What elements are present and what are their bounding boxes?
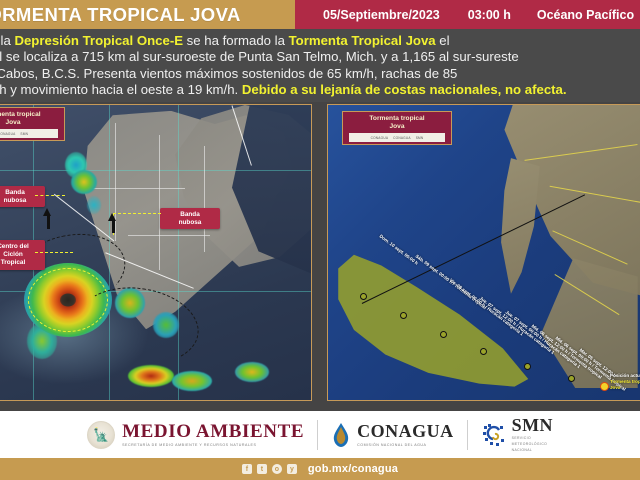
conagua-text: CONAGUA COMISIÓN NACIONAL DEL AGUA: [357, 422, 454, 447]
forecast-badge-line-2: Jova: [349, 123, 445, 131]
leader-banda-top: [35, 195, 65, 196]
smn-subtitle-2: METEOROLÓGICO: [512, 442, 553, 447]
instagram-icon[interactable]: o: [272, 464, 282, 474]
current-position-label: Posición actual Tormenta tropical Jova: [610, 373, 640, 391]
satellite-map-panel[interactable]: Banda nubosa Banda nubosa Centro del Cic…: [0, 104, 312, 401]
cloud-blob-6: [235, 362, 269, 382]
cloud-blob-5: [172, 371, 212, 391]
bulletin-date: 05/Septiembre/2023: [323, 8, 440, 22]
forecast-badge-logo-left: CONAGUA: [371, 136, 389, 140]
bulletin-hour: 03:00 h: [468, 8, 511, 22]
conagua-title: CONAGUA: [357, 422, 454, 441]
arrow-right-band: [108, 213, 116, 221]
leader-centro: [35, 252, 73, 253]
current-position-line-3: Jova: [610, 385, 640, 391]
line4-highlight-warning: Debido a su lejanía de costas nacionales…: [242, 82, 567, 97]
satellite-badge-logos: CONAGUA SMN: [0, 129, 58, 138]
label-banda-nubosa-top: Banda nubosa: [0, 186, 45, 207]
badge-conagua-logo: CONAGUA: [0, 132, 15, 136]
line4-part-a: km/h y movimiento hacia el oeste a 19 km…: [0, 82, 242, 97]
grid-line-lat-2: [0, 170, 311, 171]
track-point-3: [440, 331, 447, 338]
arrow-stem-left: [47, 215, 50, 229]
line1-part-a: De la: [0, 33, 14, 48]
footer-social-bar: f t o y gob.mx/conagua: [0, 458, 640, 480]
state-border-3: [90, 188, 185, 189]
label-centro-ciclon: Centro del Ciclón Tropical: [0, 240, 45, 270]
smn-logo-group: SMN SERVICIO METEOROLÓGICO NACIONAL: [481, 416, 553, 452]
cloud-blob-2: [71, 170, 97, 194]
ocean-basin-label: Océano Pacífico: [537, 8, 634, 22]
badge-smn-logo: SMN: [20, 132, 28, 136]
smn-text: SMN SERVICIO METEOROLÓGICO NACIONAL: [512, 416, 553, 452]
eagle-glyph: 🗽: [93, 428, 109, 441]
line1-part-c: el: [436, 33, 450, 48]
forecast-badge-logos: CONAGUA CONAGUA SMN: [349, 133, 445, 142]
line1-part-b: se ha formado la: [183, 33, 289, 48]
cloud-blob-3: [87, 196, 101, 214]
track-point-6: [568, 375, 575, 382]
current-position-marker: [600, 382, 609, 391]
youtube-icon[interactable]: y: [287, 464, 297, 474]
state-border-2: [159, 135, 160, 271]
satellite-map-badge: Tormenta tropical Jova CONAGUA SMN: [0, 107, 65, 141]
medio-ambiente-title: MEDIO AMBIENTE: [122, 422, 304, 442]
satellite-badge-line-2: Jova: [0, 119, 58, 127]
footer-logos-bar: 🗽 MEDIO AMBIENTE SECRETARÍA DE MEDIO AMB…: [0, 411, 640, 458]
water-drop-icon: [331, 422, 351, 448]
bulletin-line-1: De la Depresión Tropical Once-E se ha fo…: [0, 33, 640, 49]
mexican-eagle-icon: 🗽: [87, 421, 115, 449]
bulletin-screenshot: TORMENTA TROPICAL JOVA 05/Septiembre/202…: [0, 0, 640, 480]
bulletin-line-3: de Cabos, B.C.S. Presenta vientos máximo…: [0, 66, 640, 82]
bulletin-line-4: km/h y movimiento hacia el oeste a 19 km…: [0, 82, 640, 98]
arrow-stem-right: [112, 219, 115, 233]
label-banda-nubosa-right: Banda nubosa: [160, 208, 220, 229]
page-title: TORMENTA TROPICAL JOVA: [0, 4, 241, 26]
leader-banda-right: [113, 213, 161, 214]
track-point-1: [360, 293, 367, 300]
smn-subtitle-3: NACIONAL: [512, 448, 553, 453]
line1-highlight-depresion: Depresión Tropical Once-E: [14, 33, 183, 48]
satellite-badge-line-1: Tormenta tropical: [0, 111, 58, 119]
smn-title: SMN: [512, 416, 553, 434]
footer-divider-1: [317, 420, 318, 450]
coastline-gulf: [231, 105, 252, 165]
medio-ambiente-subtitle: SECRETARÍA DE MEDIO AMBIENTE Y RECURSOS …: [122, 443, 304, 447]
line1-highlight-tormenta: Tormenta Tropical Jova: [289, 33, 436, 48]
forecast-map-badge: Tormenta tropical Jova CONAGUA CONAGUA S…: [342, 111, 452, 145]
satellite-image: Banda nubosa Banda nubosa Centro del Cic…: [0, 105, 311, 400]
state-border-4: [128, 235, 210, 236]
maps-row: Banda nubosa Banda nubosa Centro del Cic…: [0, 104, 640, 405]
medio-ambiente-logo-group: 🗽 MEDIO AMBIENTE SECRETARÍA DE MEDIO AMB…: [87, 421, 304, 449]
arrow-left-band: [43, 208, 51, 216]
bulletin-line-2: cual se localiza a 715 km al sur-suroest…: [0, 49, 640, 65]
forecast-map-image: Dom. 10 sept. 00:00 h Sáb. 09 sept. 00:0…: [328, 105, 640, 400]
forecast-badge-logo-mid: CONAGUA: [393, 136, 411, 140]
track-point-2: [400, 312, 407, 319]
medio-ambiente-text: MEDIO AMBIENTE SECRETARÍA DE MEDIO AMBIE…: [122, 422, 304, 448]
forecast-cone-panel[interactable]: Dom. 10 sept. 00:00 h Sáb. 09 sept. 00:0…: [327, 104, 640, 401]
twitter-icon[interactable]: t: [257, 464, 267, 474]
conagua-subtitle: COMISIÓN NACIONAL DEL AGUA: [357, 443, 454, 447]
header-title-container: TORMENTA TROPICAL JOVA: [0, 0, 295, 29]
track-point-4: [480, 348, 487, 355]
smn-spiral-icon: [481, 422, 507, 448]
footer-divider-2: [467, 420, 468, 450]
forecast-badge-logo-right: SMN: [416, 136, 424, 140]
website-url[interactable]: gob.mx/conagua: [308, 463, 398, 475]
track-point-5: [524, 363, 531, 370]
forecast-badge-line-1: Tormenta tropical: [349, 115, 445, 123]
conagua-logo-group: CONAGUA COMISIÓN NACIONAL DEL AGUA: [331, 422, 454, 448]
state-border-5: [204, 146, 205, 252]
smn-subtitle-1: SERVICIO: [512, 436, 553, 441]
header-bar: TORMENTA TROPICAL JOVA 05/Septiembre/202…: [0, 0, 640, 29]
state-border-1: [115, 123, 116, 241]
cloud-blob-4: [128, 365, 174, 387]
header-meta-container: 05/Septiembre/2023 03:00 h Océano Pacífi…: [295, 0, 640, 29]
facebook-icon[interactable]: f: [242, 464, 252, 474]
bulletin-text: De la Depresión Tropical Once-E se ha fo…: [0, 29, 640, 102]
